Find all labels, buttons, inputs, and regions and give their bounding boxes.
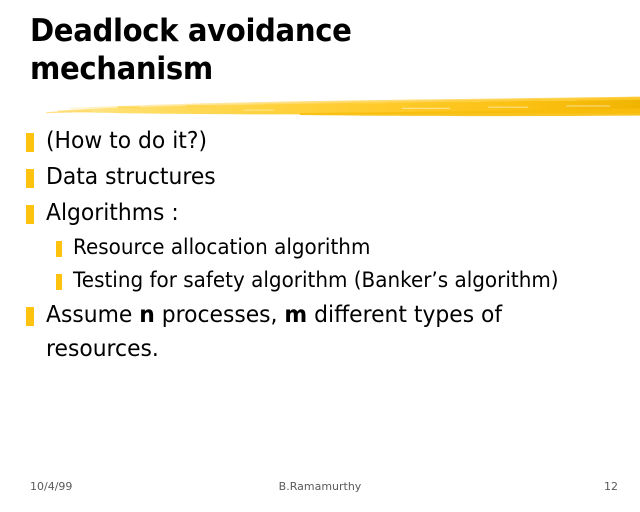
sub-list-item-label: Resource allocation algorithm: [73, 232, 370, 263]
sub-list-item-label: Testing for safety algorithm (Banker’s a…: [73, 265, 559, 296]
bullet-marker-icon: [26, 307, 34, 326]
bullet-marker-icon: [26, 133, 34, 152]
list-item: Assume n processes, m different types of…: [26, 298, 626, 366]
sub-list-item: Resource allocation algorithm: [26, 232, 626, 263]
footer-author: B.Ramamurthy: [0, 480, 640, 494]
list-item: Algorithms :: [26, 196, 626, 230]
title-block: Deadlock avoidance mechanism: [30, 12, 590, 88]
list-item-label: Data structures: [46, 160, 216, 194]
list-item-label: (How to do it?): [46, 124, 207, 158]
sub-bullet-marker-icon: [56, 241, 62, 257]
list-item-label: Algorithms :: [46, 196, 179, 230]
list-item-label: Assume n processes, m different types of…: [46, 298, 597, 366]
sub-list-item: Testing for safety algorithm (Banker’s a…: [26, 265, 626, 296]
bullet-list: (How to do it?) Data structures Algorith…: [26, 124, 626, 368]
footer-page-number: 12: [604, 480, 618, 494]
sub-bullet-marker-icon: [56, 274, 62, 290]
bullet-marker-icon: [26, 205, 34, 224]
slide-footer: 10/4/99 B.Ramamurthy 12: [0, 478, 640, 500]
presentation-slide: Deadlock avoidance mechanism: [0, 0, 640, 512]
list-item: Data structures: [26, 160, 626, 194]
list-item: (How to do it?): [26, 124, 626, 158]
page-title: Deadlock avoidance mechanism: [30, 12, 556, 88]
brush-stroke-icon: [0, 88, 640, 124]
bullet-marker-icon: [26, 169, 34, 188]
divider: [0, 88, 640, 124]
